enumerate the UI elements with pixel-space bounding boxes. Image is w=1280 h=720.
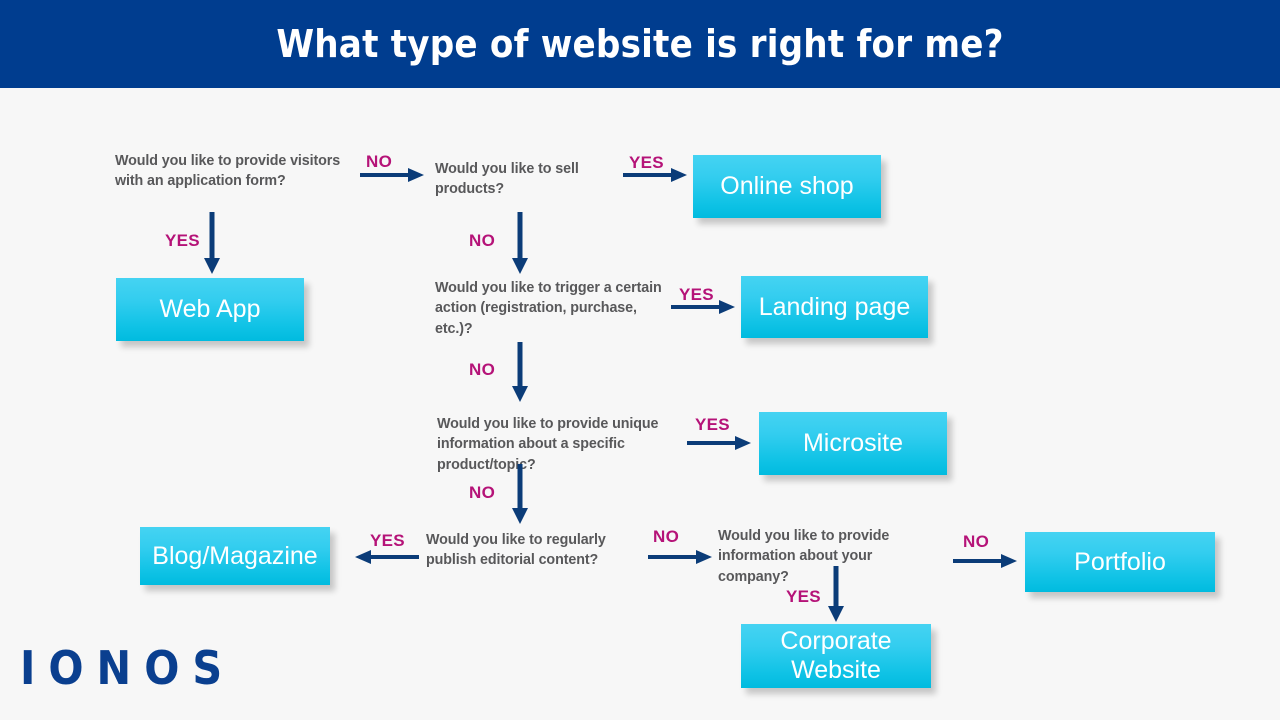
- page-title: What type of website is right for me?: [0, 0, 1280, 88]
- arrow-editorial-yes: [351, 548, 419, 566]
- question-company-information: Would you like to provide information ab…: [718, 526, 928, 587]
- question-application-form: Would you like to provide visitors with …: [115, 151, 347, 192]
- edge-label-company-yes: YES: [786, 587, 821, 607]
- slide-canvas: What type of website is right for me? Wo…: [0, 0, 1280, 720]
- result-label-blog-magazine: Blog/Magazine: [152, 542, 317, 571]
- result-label-web-app: Web App: [159, 295, 260, 324]
- result-label-microsite: Microsite: [803, 429, 903, 458]
- edge-label-company-no: NO: [963, 532, 989, 552]
- ionos-logo: IONOS: [20, 645, 235, 691]
- arrow-appform-no: [360, 166, 426, 184]
- question-editorial-content: Would you like to regularly publish edit…: [426, 530, 650, 571]
- arrow-unique-no: [511, 464, 529, 526]
- arrow-editorial-no: [648, 548, 714, 566]
- result-box-portfolio[interactable]: Portfolio: [1025, 532, 1215, 592]
- arrow-sell-yes: [623, 166, 689, 184]
- arrow-company-yes: [827, 566, 845, 624]
- question-unique-information: Would you like to provide unique informa…: [437, 414, 669, 475]
- result-label-corporate-website: Corporate Website: [780, 627, 891, 685]
- arrow-sell-no: [511, 212, 529, 276]
- result-label-portfolio: Portfolio: [1074, 548, 1166, 577]
- result-label-landing-page: Landing page: [759, 293, 911, 322]
- edge-label-trigger-no: NO: [469, 360, 495, 380]
- edge-label-unique-no: NO: [469, 483, 495, 503]
- arrow-appform-yes: [203, 212, 221, 276]
- arrow-trigger-yes: [671, 298, 737, 316]
- result-box-online-shop[interactable]: Online shop: [693, 155, 881, 218]
- edge-label-appform-yes: YES: [165, 231, 200, 251]
- arrow-company-no: [953, 552, 1019, 570]
- arrow-unique-yes: [687, 434, 753, 452]
- result-label-online-shop: Online shop: [720, 172, 853, 201]
- result-box-microsite[interactable]: Microsite: [759, 412, 947, 475]
- result-box-blog-magazine[interactable]: Blog/Magazine: [140, 527, 330, 585]
- edge-label-sell-no: NO: [469, 231, 495, 251]
- question-trigger-action: Would you like to trigger a certain acti…: [435, 278, 675, 339]
- result-box-corporate-website[interactable]: Corporate Website: [741, 624, 931, 688]
- edge-label-unique-yes: YES: [695, 415, 730, 435]
- result-box-web-app[interactable]: Web App: [116, 278, 304, 341]
- edge-label-editorial-no: NO: [653, 527, 679, 547]
- question-sell-products: Would you like to sell products?: [435, 159, 625, 200]
- arrow-trigger-no: [511, 342, 529, 404]
- result-box-landing-page[interactable]: Landing page: [741, 276, 928, 338]
